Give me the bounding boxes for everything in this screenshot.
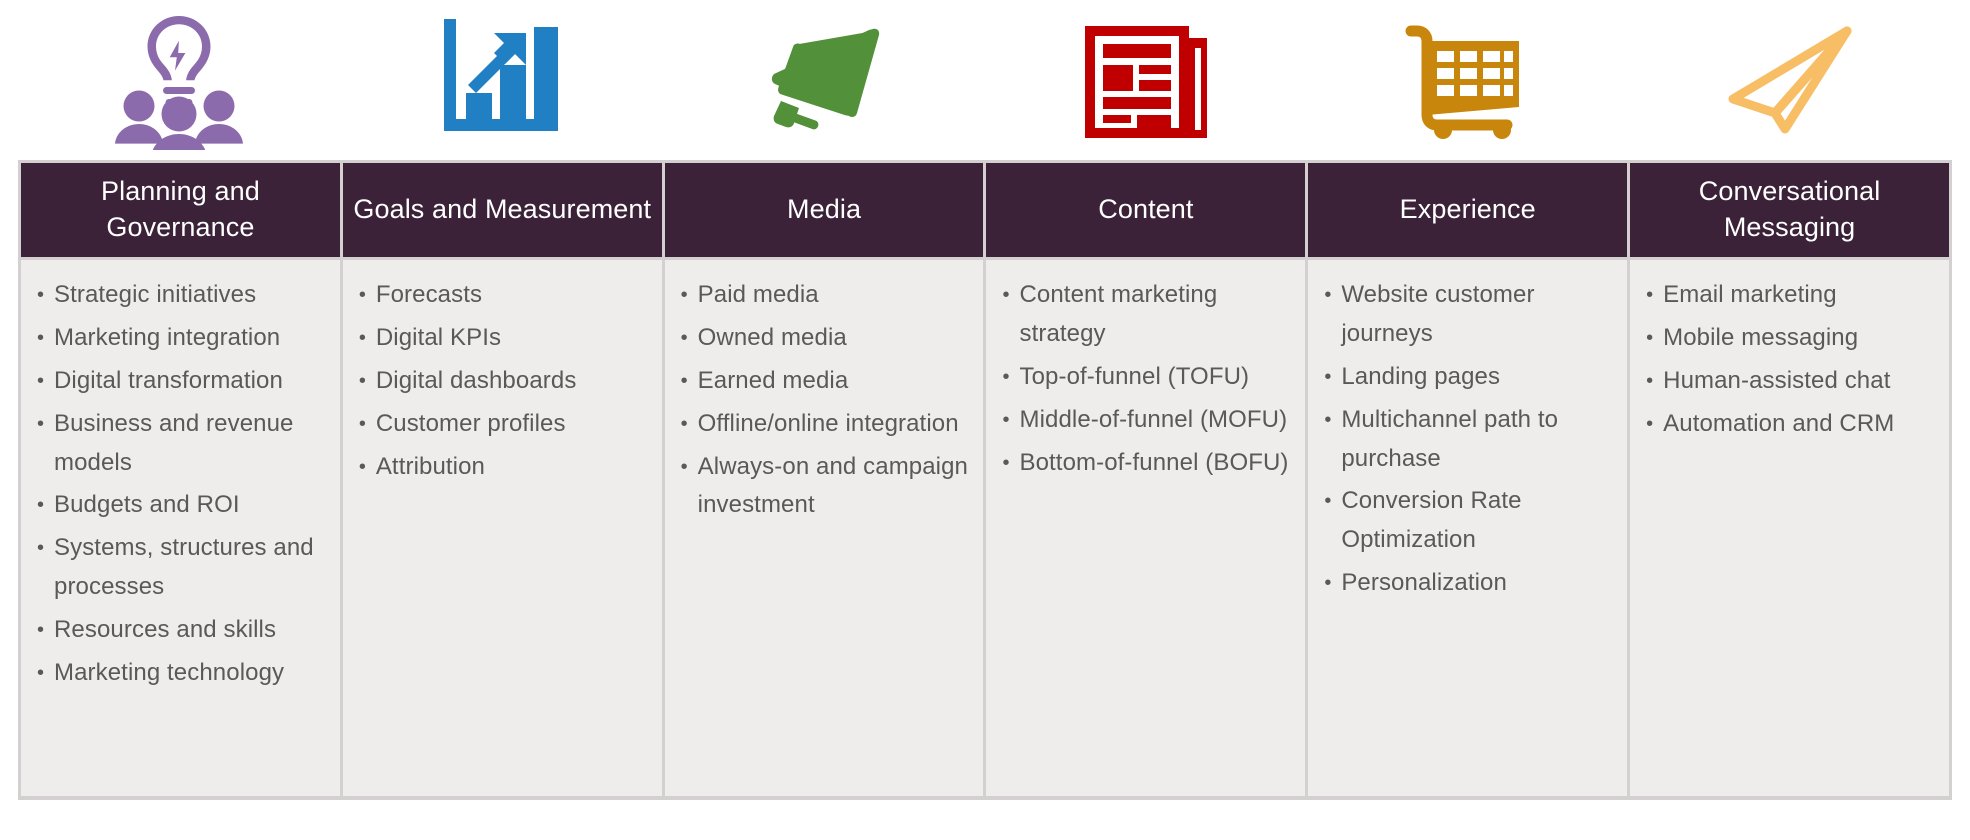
column-header: Conversational Messaging [1630,163,1949,260]
list-item: Earned media [681,362,974,401]
column-experience: Experience Website customer journeys Lan… [1308,163,1630,796]
list-item: Website customer journeys [1324,276,1617,354]
list-item: Automation and CRM [1646,405,1939,444]
lightbulb-team-icon [115,10,243,150]
icon-row [18,0,1952,160]
icon-cell-goals-and-measurement [340,0,662,160]
bullet-list: Forecasts Digital KPIs Digital dashboard… [359,276,652,486]
list-item: Digital dashboards [359,362,652,401]
column-header: Content [986,163,1305,260]
column-body: Content marketing strategy Top-of-funnel… [986,260,1305,796]
column-body: Website customer journeys Landing pages … [1308,260,1627,796]
list-item: Email marketing [1646,276,1939,315]
list-item: Multichannel path to purchase [1324,401,1617,479]
bar-chart-growth-icon [438,17,564,143]
list-item: Offline/online integration [681,405,974,444]
list-item: Systems, structures and processes [37,529,330,607]
bullet-list: Website customer journeys Landing pages … [1324,276,1617,603]
list-item: Human-assisted chat [1646,362,1939,401]
bullet-list: Email marketing Mobile messaging Human-a… [1646,276,1939,444]
list-item: Strategic initiatives [37,276,330,315]
list-item: Marketing integration [37,319,330,358]
column-media: Media Paid media Owned media Earned medi… [665,163,987,796]
megaphone-icon [761,21,887,139]
list-item: Top-of-funnel (TOFU) [1002,358,1295,397]
icon-cell-conversational-messaging [1630,0,1952,160]
bullet-list: Paid media Owned media Earned media Offl… [681,276,974,525]
list-item: Conversion Rate Optimization [1324,482,1617,560]
list-item: Customer profiles [359,405,652,444]
column-header: Experience [1308,163,1627,260]
list-item: Content marketing strategy [1002,276,1295,354]
list-item: Business and revenue models [37,405,330,483]
column-body: Email marketing Mobile messaging Human-a… [1630,260,1949,796]
list-item: Middle-of-funnel (MOFU) [1002,401,1295,440]
column-header: Media [665,163,984,260]
newspaper-icon [1083,20,1209,140]
list-item: Digital transformation [37,362,330,401]
column-body: Paid media Owned media Earned media Offl… [665,260,984,796]
icon-cell-media [663,0,985,160]
list-item: Forecasts [359,276,652,315]
list-item: Paid media [681,276,974,315]
list-item: Attribution [359,448,652,487]
paper-plane-icon [1725,21,1857,139]
column-body: Forecasts Digital KPIs Digital dashboard… [343,260,662,796]
framework-table: Planning and Governance Strategic initia… [18,160,1952,800]
shopping-cart-icon [1405,21,1531,139]
list-item: Budgets and ROI [37,486,330,525]
icon-cell-content [985,0,1307,160]
column-body: Strategic initiatives Marketing integrat… [21,260,340,796]
list-item: Owned media [681,319,974,358]
list-item: Always-on and campaign investment [681,448,974,526]
column-planning-and-governance: Planning and Governance Strategic initia… [21,163,343,796]
bullet-list: Strategic initiatives Marketing integrat… [37,276,330,693]
column-header: Goals and Measurement [343,163,662,260]
icon-cell-experience [1307,0,1629,160]
list-item: Bottom-of-funnel (BOFU) [1002,444,1295,483]
column-header: Planning and Governance [21,163,340,260]
digital-marketing-framework-table: Planning and Governance Strategic initia… [0,0,1970,840]
column-content: Content Content marketing strategy Top-o… [986,163,1308,796]
column-conversational-messaging: Conversational Messaging Email marketing… [1630,163,1949,796]
column-goals-and-measurement: Goals and Measurement Forecasts Digital … [343,163,665,796]
list-item: Personalization [1324,564,1617,603]
icon-cell-planning-and-governance [18,0,340,160]
list-item: Mobile messaging [1646,319,1939,358]
list-item: Marketing technology [37,654,330,693]
bullet-list: Content marketing strategy Top-of-funnel… [1002,276,1295,482]
list-item: Resources and skills [37,611,330,650]
list-item: Landing pages [1324,358,1617,397]
list-item: Digital KPIs [359,319,652,358]
